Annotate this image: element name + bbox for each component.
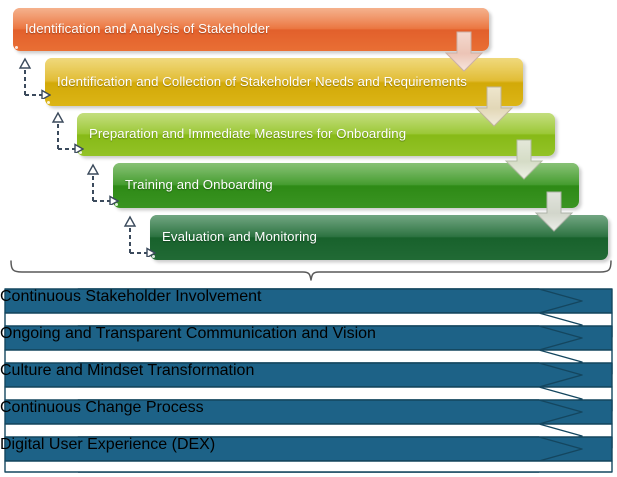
feedback-arrow-1 <box>17 57 51 99</box>
step-label-3: Preparation and Immediate Measures for O… <box>89 126 406 143</box>
flow-arrow-3 <box>504 139 544 181</box>
bar-label-text: Culture and Mindset Transformation <box>0 362 254 379</box>
step-label-2: Identification and Collection of Stakeho… <box>57 74 467 91</box>
bar-label-text: Continuous Change Process <box>0 399 204 416</box>
grouping-brace <box>0 258 617 290</box>
bar-label-text: Continuous Stakeholder Involvement <box>0 288 262 305</box>
step-label-1: Identification and Analysis of Stakehold… <box>25 21 270 38</box>
continuous-bar-2-label: Ongoing and Transparent Communication an… <box>0 325 617 351</box>
step-box-1[interactable]: Identification and Analysis of Stakehold… <box>13 8 489 51</box>
bar-label-text: Ongoing and Transparent Communication an… <box>0 325 376 342</box>
continuous-bar-5-label: Digital User Experience (DEX) <box>0 436 617 462</box>
step-corner-dot <box>15 46 18 49</box>
feedback-arrow-4 <box>122 215 156 257</box>
flow-arrow-4 <box>534 191 574 233</box>
step-label-5: Evaluation and Monitoring <box>162 229 317 246</box>
bar-label-text: Digital User Experience (DEX) <box>0 436 215 453</box>
feedback-arrow-3 <box>85 163 119 205</box>
continuous-bar-bottom-edge <box>0 460 617 474</box>
continuous-bar-4-label: Continuous Change Process <box>0 399 617 425</box>
step-label-4: Training and Onboarding <box>125 177 273 194</box>
step-corner-dot <box>47 101 50 104</box>
continuous-bar-1-label: Continuous Stakeholder Involvement <box>0 288 617 314</box>
flow-arrow-2 <box>474 86 514 128</box>
process-diagram: Identification and Analysis of Stakehold… <box>0 0 617 477</box>
feedback-arrow-2 <box>50 111 84 153</box>
flow-arrow-1 <box>444 31 484 73</box>
continuous-bar-3-label: Culture and Mindset Transformation <box>0 362 617 388</box>
